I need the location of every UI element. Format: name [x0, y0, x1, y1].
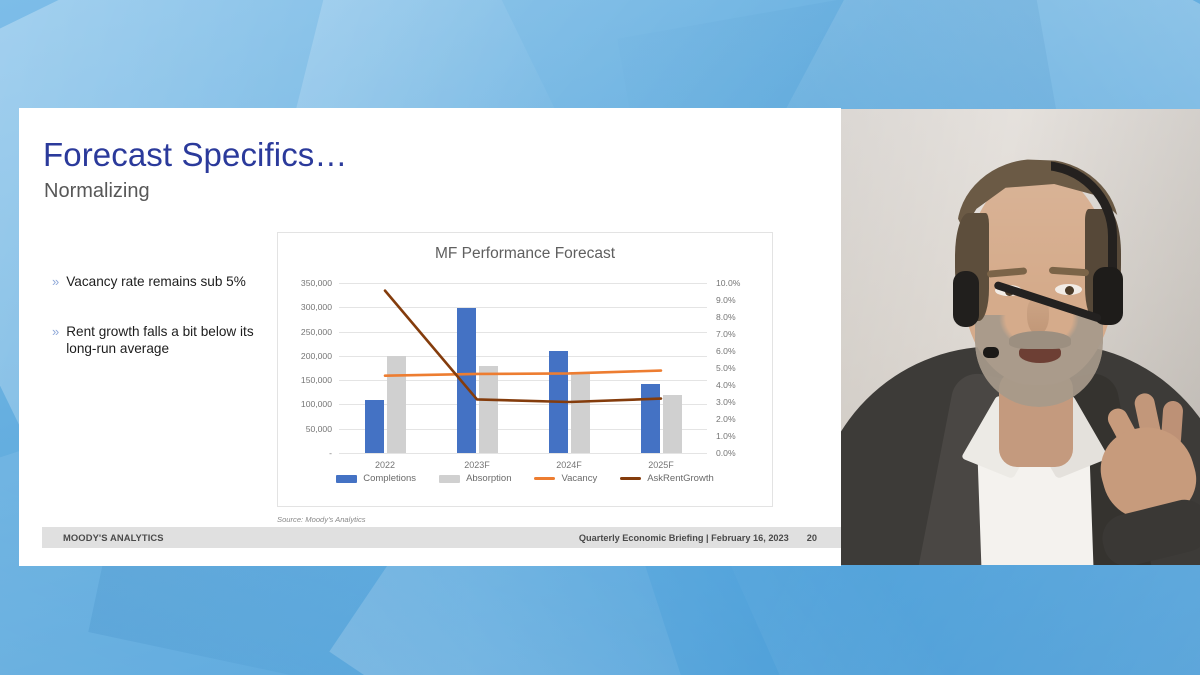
headset-microphone-icon	[983, 347, 999, 358]
chart-right-tick-label: 6.0%	[716, 346, 736, 356]
chart-left-tick-label: 100,000	[301, 399, 332, 409]
chart-line-vacancy	[385, 371, 661, 376]
slide-page-number: 20	[807, 533, 817, 543]
legend-item-completions[interactable]: Completions	[336, 473, 416, 484]
list-item-label: Vacancy rate remains sub 5%	[66, 273, 246, 291]
legend-swatch-icon	[620, 477, 641, 480]
legend-swatch-icon	[439, 475, 460, 483]
legend-label: Vacancy	[561, 473, 597, 484]
chart-x-tick-label: 2022	[375, 460, 395, 470]
chart-source-note: Source: Moody's Analytics	[277, 515, 366, 524]
chevron-bullet-icon: »	[52, 273, 59, 291]
chart-right-tick-label: 2.0%	[716, 414, 736, 424]
speaker-mustache	[1009, 331, 1071, 349]
footer-meta-group: Quarterly Economic Briefing | February 1…	[579, 533, 817, 543]
page-subtitle: Normalizing	[44, 180, 150, 203]
chart-gridline	[339, 453, 707, 454]
footer-brand: MOODY'S ANALYTICS	[63, 532, 164, 543]
chart-x-tick-label: 2023F	[464, 460, 490, 470]
bullet-list: » Vacancy rate remains sub 5% » Rent gro…	[52, 273, 267, 390]
chart-left-tick-label: 300,000	[301, 302, 332, 312]
headset-earcup-icon	[953, 271, 979, 327]
chart-x-tick-label: 2024F	[556, 460, 582, 470]
chart-left-tick-label: 250,000	[301, 327, 332, 337]
chart-left-tick-label: 200,000	[301, 351, 332, 361]
chart-right-tick-label: 5.0%	[716, 363, 736, 373]
chevron-bullet-icon: »	[52, 323, 59, 358]
chart-lines	[339, 283, 707, 453]
slide-footer: MOODY'S ANALYTICS Quarterly Economic Bri…	[42, 527, 841, 548]
chart-plot-area: -50,000100,000150,000200,000250,000300,0…	[339, 283, 707, 453]
chart-x-tick-label: 2025F	[648, 460, 674, 470]
chart-right-tick-label: 4.0%	[716, 380, 736, 390]
chart-left-tick-label: -	[329, 448, 332, 458]
legend-label: Completions	[363, 473, 416, 484]
mf-performance-forecast-chart: MF Performance Forecast -50,000100,00015…	[277, 232, 773, 507]
chart-right-tick-label: 1.0%	[716, 431, 736, 441]
chart-left-tick-label: 50,000	[306, 424, 332, 434]
legend-item-vacancy[interactable]: Vacancy	[534, 473, 597, 484]
chart-left-tick-label: 350,000	[301, 278, 332, 288]
chart-right-tick-label: 8.0%	[716, 312, 736, 322]
chart-right-tick-label: 0.0%	[716, 448, 736, 458]
legend-item-absorption[interactable]: Absorption	[439, 473, 511, 484]
legend-swatch-icon	[534, 477, 555, 480]
footer-meta: Quarterly Economic Briefing | February 1…	[579, 533, 789, 543]
chart-title: MF Performance Forecast	[278, 245, 772, 263]
list-item: » Vacancy rate remains sub 5%	[52, 273, 267, 291]
page-title: Forecast Specifics…	[43, 136, 348, 174]
chart-line-askrentgrowth	[385, 291, 661, 402]
zoom-meeting-stage: Forecast Specifics… Normalizing » Vacanc…	[0, 0, 1200, 675]
shared-slide: Forecast Specifics… Normalizing » Vacanc…	[19, 108, 841, 566]
chart-right-tick-label: 3.0%	[716, 397, 736, 407]
legend-swatch-icon	[336, 475, 357, 483]
legend-item-askrentgrowth[interactable]: AskRentGrowth	[620, 473, 714, 484]
participant-video-tile[interactable]	[841, 109, 1200, 565]
chart-legend: CompletionsAbsorptionVacancyAskRentGrowt…	[278, 473, 772, 484]
chart-left-tick-label: 150,000	[301, 375, 332, 385]
legend-label: AskRentGrowth	[647, 473, 714, 484]
chart-right-tick-label: 7.0%	[716, 329, 736, 339]
list-item-label: Rent growth falls a bit below its long-r…	[66, 323, 267, 358]
chart-right-tick-label: 9.0%	[716, 295, 736, 305]
list-item: » Rent growth falls a bit below its long…	[52, 323, 267, 358]
chart-right-tick-label: 10.0%	[716, 278, 740, 288]
legend-label: Absorption	[466, 473, 511, 484]
